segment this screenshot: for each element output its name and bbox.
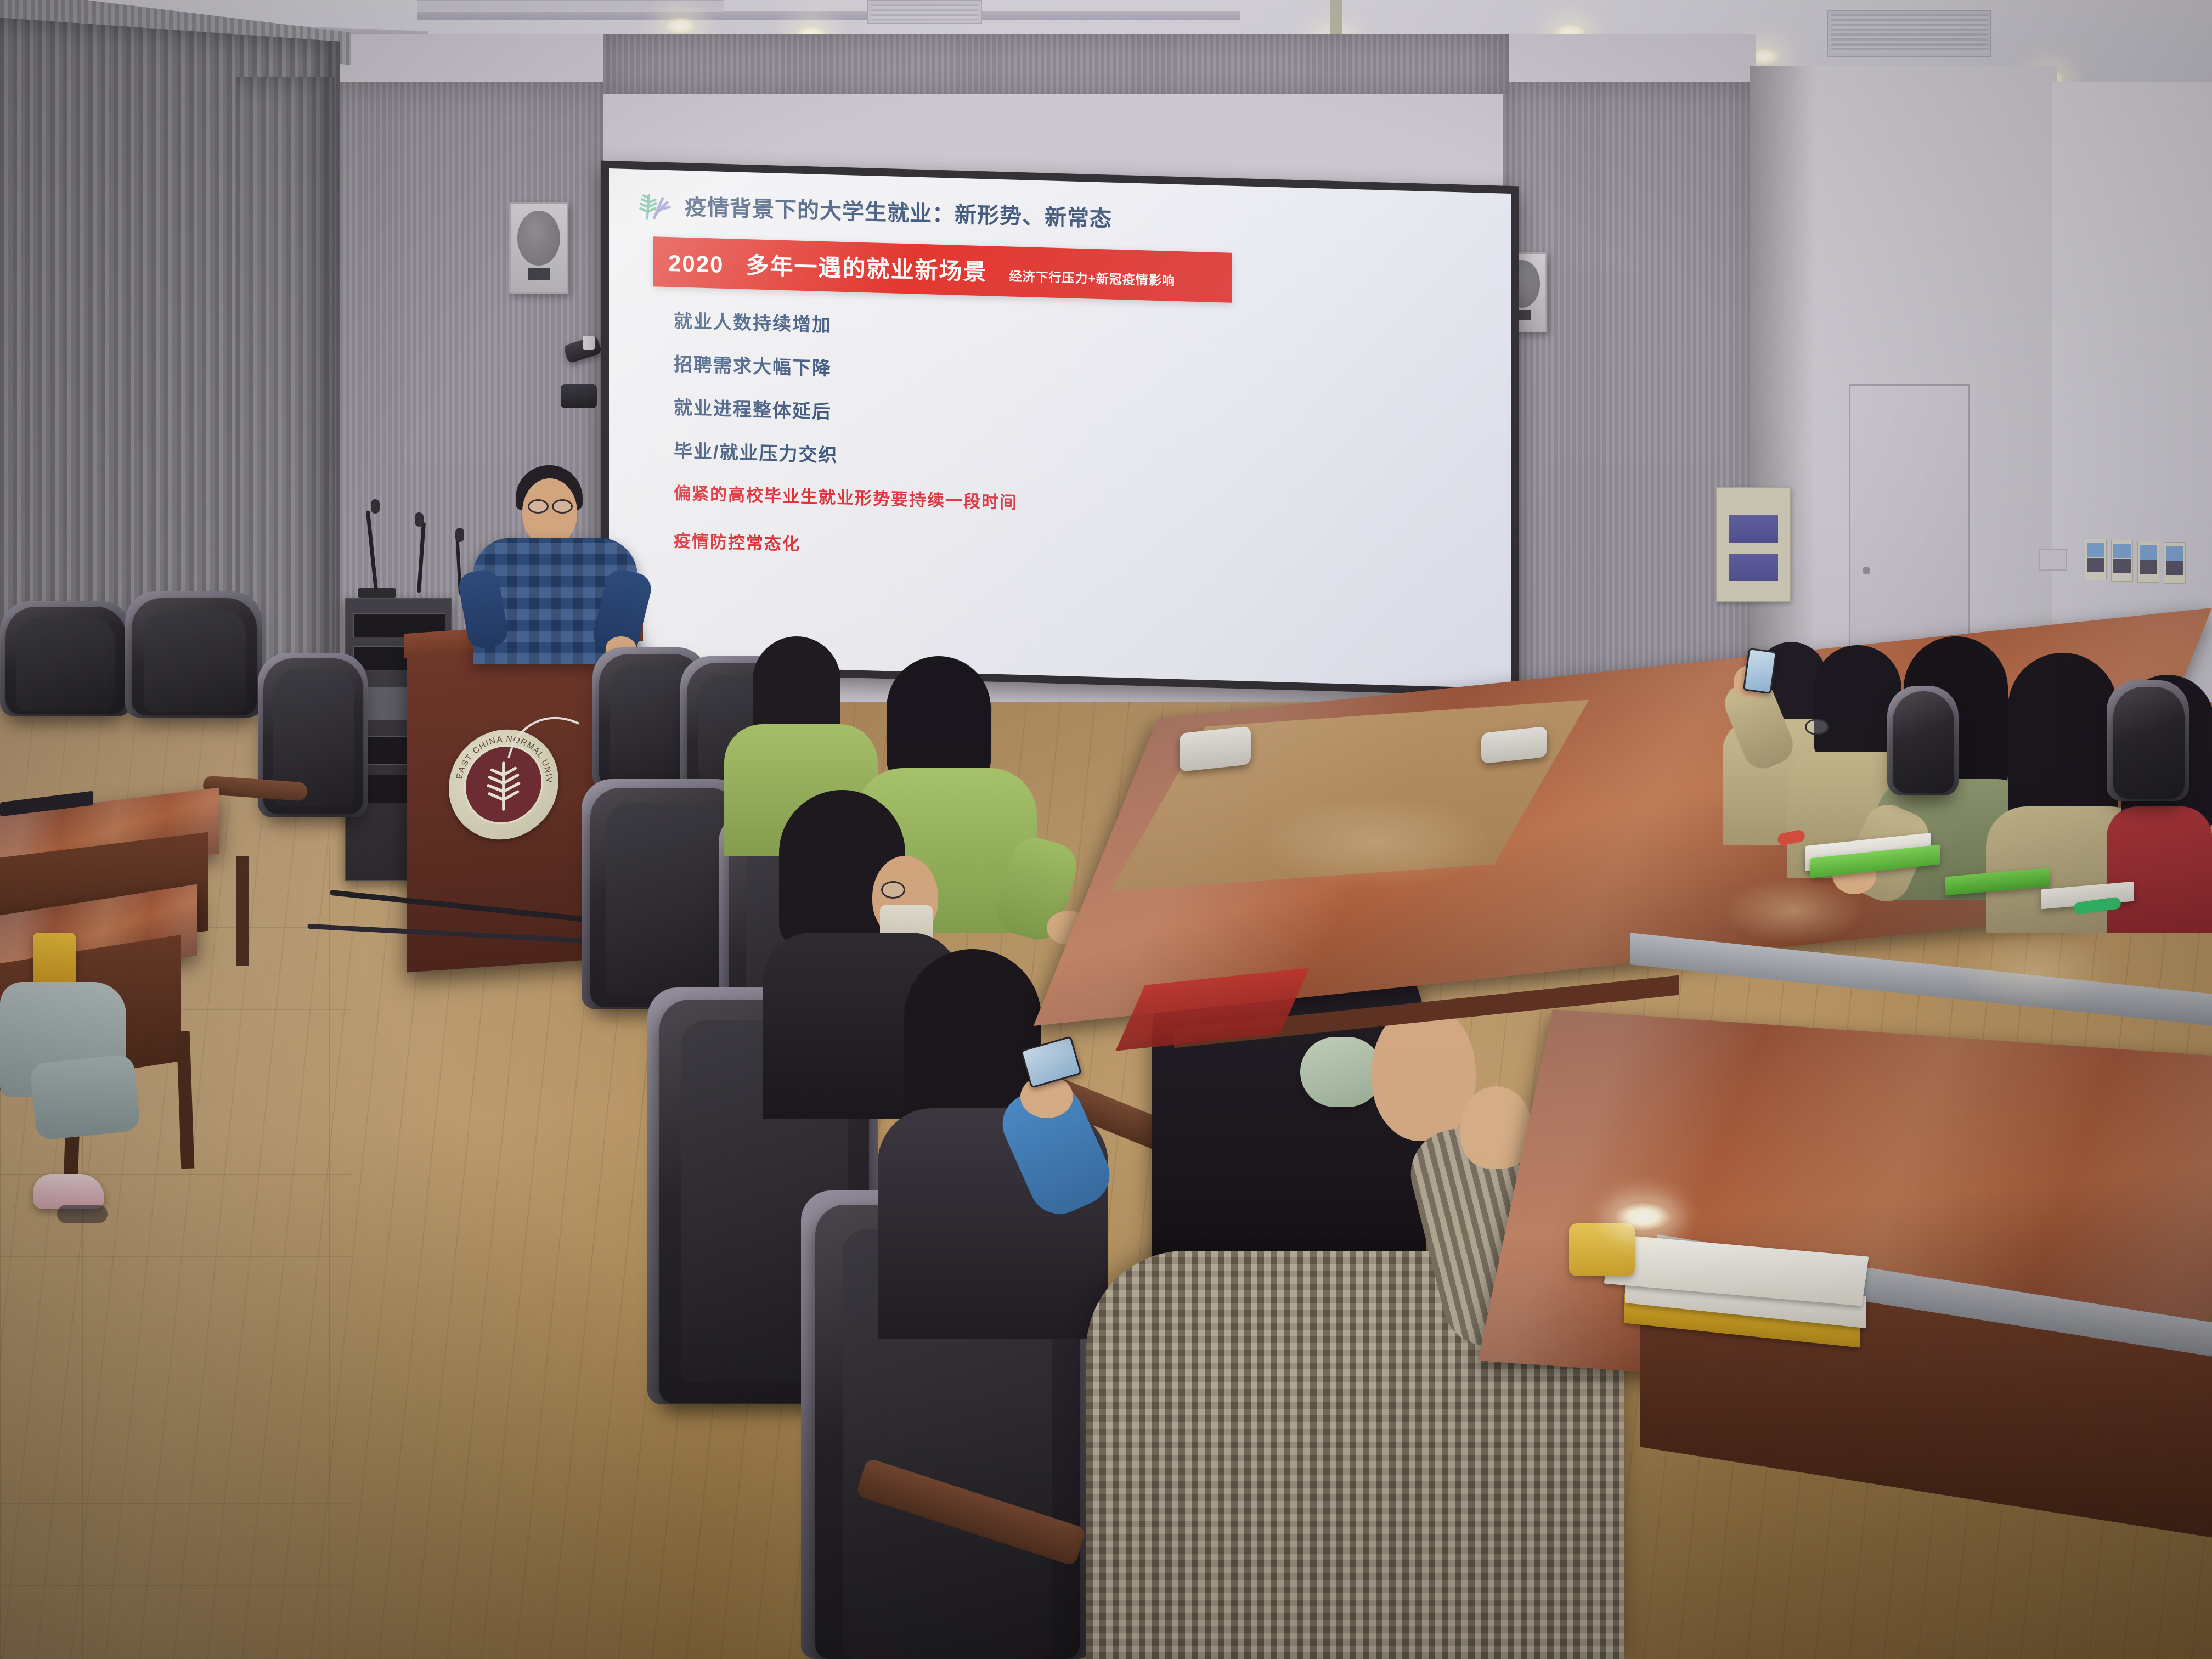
table-reflection xyxy=(1723,878,1865,944)
slide-red-line: 偏紧的高校毕业生就业形势要持续一段时间 xyxy=(674,479,1489,527)
slide-header: 疫情背景下的大学生就业：新形势、新常态 xyxy=(634,184,1489,247)
slide-bullet: 就业进程整体延后 xyxy=(674,392,1489,442)
shoe-shadow xyxy=(57,1205,108,1223)
yellow-bag xyxy=(33,933,76,988)
table-light-reflection xyxy=(1613,1201,1673,1232)
banner-subtext: 经济下行压力+新冠疫情影响 xyxy=(1009,266,1175,289)
wall-speaker-left xyxy=(509,202,568,294)
ribbed-wall-panel xyxy=(603,34,1509,94)
hair-scrunchie xyxy=(1300,1037,1383,1107)
slide-banner: 2020 多年一遇的就业新场景 经济下行压力+新冠疫情影响 xyxy=(653,236,1232,302)
sneaker xyxy=(33,1174,104,1209)
banner-headline: 多年一遇的就业新场景 xyxy=(746,247,987,287)
wall-photo-frame xyxy=(2164,542,2186,584)
leaf-logo-icon xyxy=(634,184,673,224)
ceiling-vent xyxy=(1827,10,1991,57)
wall-photo-frame xyxy=(2137,541,2159,583)
slide-red-line: 疫情防控常态化 xyxy=(674,527,1489,574)
slide-bullet: 就业人数持续增加 xyxy=(674,306,1489,356)
glasses-icon xyxy=(528,499,549,513)
banner-year: 2020 xyxy=(668,250,724,278)
person-shin xyxy=(29,1053,141,1141)
ceiling-panel xyxy=(417,0,724,12)
wall-switch-panel[interactable] xyxy=(2039,549,2067,571)
camera-icon xyxy=(561,384,597,408)
slide-content: 疫情背景下的大学生就业：新形势、新常态 2020 多年一遇的就业新场景 经济下行… xyxy=(609,168,1511,689)
table-reflection xyxy=(1262,795,1492,889)
table-reflection xyxy=(1953,933,2118,1009)
lecture-hall-scene: 疫情背景下的大学生就业：新形势、新常态 2020 多年一遇的就业新场景 经济下行… xyxy=(0,0,2212,1659)
yellow-item xyxy=(1569,1223,1635,1276)
slide-title: 疫情背景下的大学生就业：新形势、新常态 xyxy=(685,189,1112,233)
slide-bullet: 招聘需求大幅下降 xyxy=(674,349,1489,399)
ceiling-vent xyxy=(867,0,982,24)
hair xyxy=(887,656,991,782)
microphone-head xyxy=(371,499,380,513)
microphone-head xyxy=(455,528,464,542)
projection-screen: 疫情背景下的大学生就业：新形势、新常态 2020 多年一遇的就业新场景 经济下行… xyxy=(609,168,1511,689)
slide-bullet: 毕业/就业压力交织 xyxy=(674,436,1489,486)
wall-photo-frame xyxy=(2085,539,2107,580)
person-top xyxy=(2107,806,2212,933)
glasses-icon xyxy=(552,499,573,513)
camera-mount xyxy=(583,336,595,350)
wall-notice-frame xyxy=(1716,487,1791,602)
smartphone[interactable] xyxy=(1743,648,1777,694)
glasses-icon xyxy=(1805,719,1829,735)
microphone-head xyxy=(415,512,424,527)
ceiling-beam xyxy=(417,11,1240,20)
glasses-icon xyxy=(881,881,905,899)
slide-bullet-list: 就业人数持续增加 招聘需求大幅下降 就业进程整体延后 毕业/就业压力交织 xyxy=(674,306,1489,486)
chair-leg xyxy=(236,856,249,966)
hair xyxy=(2008,653,2118,828)
ceiling-downlight xyxy=(664,16,697,35)
conference-phone[interactable] xyxy=(1180,726,1251,772)
wall-photo-frame xyxy=(2111,540,2133,582)
